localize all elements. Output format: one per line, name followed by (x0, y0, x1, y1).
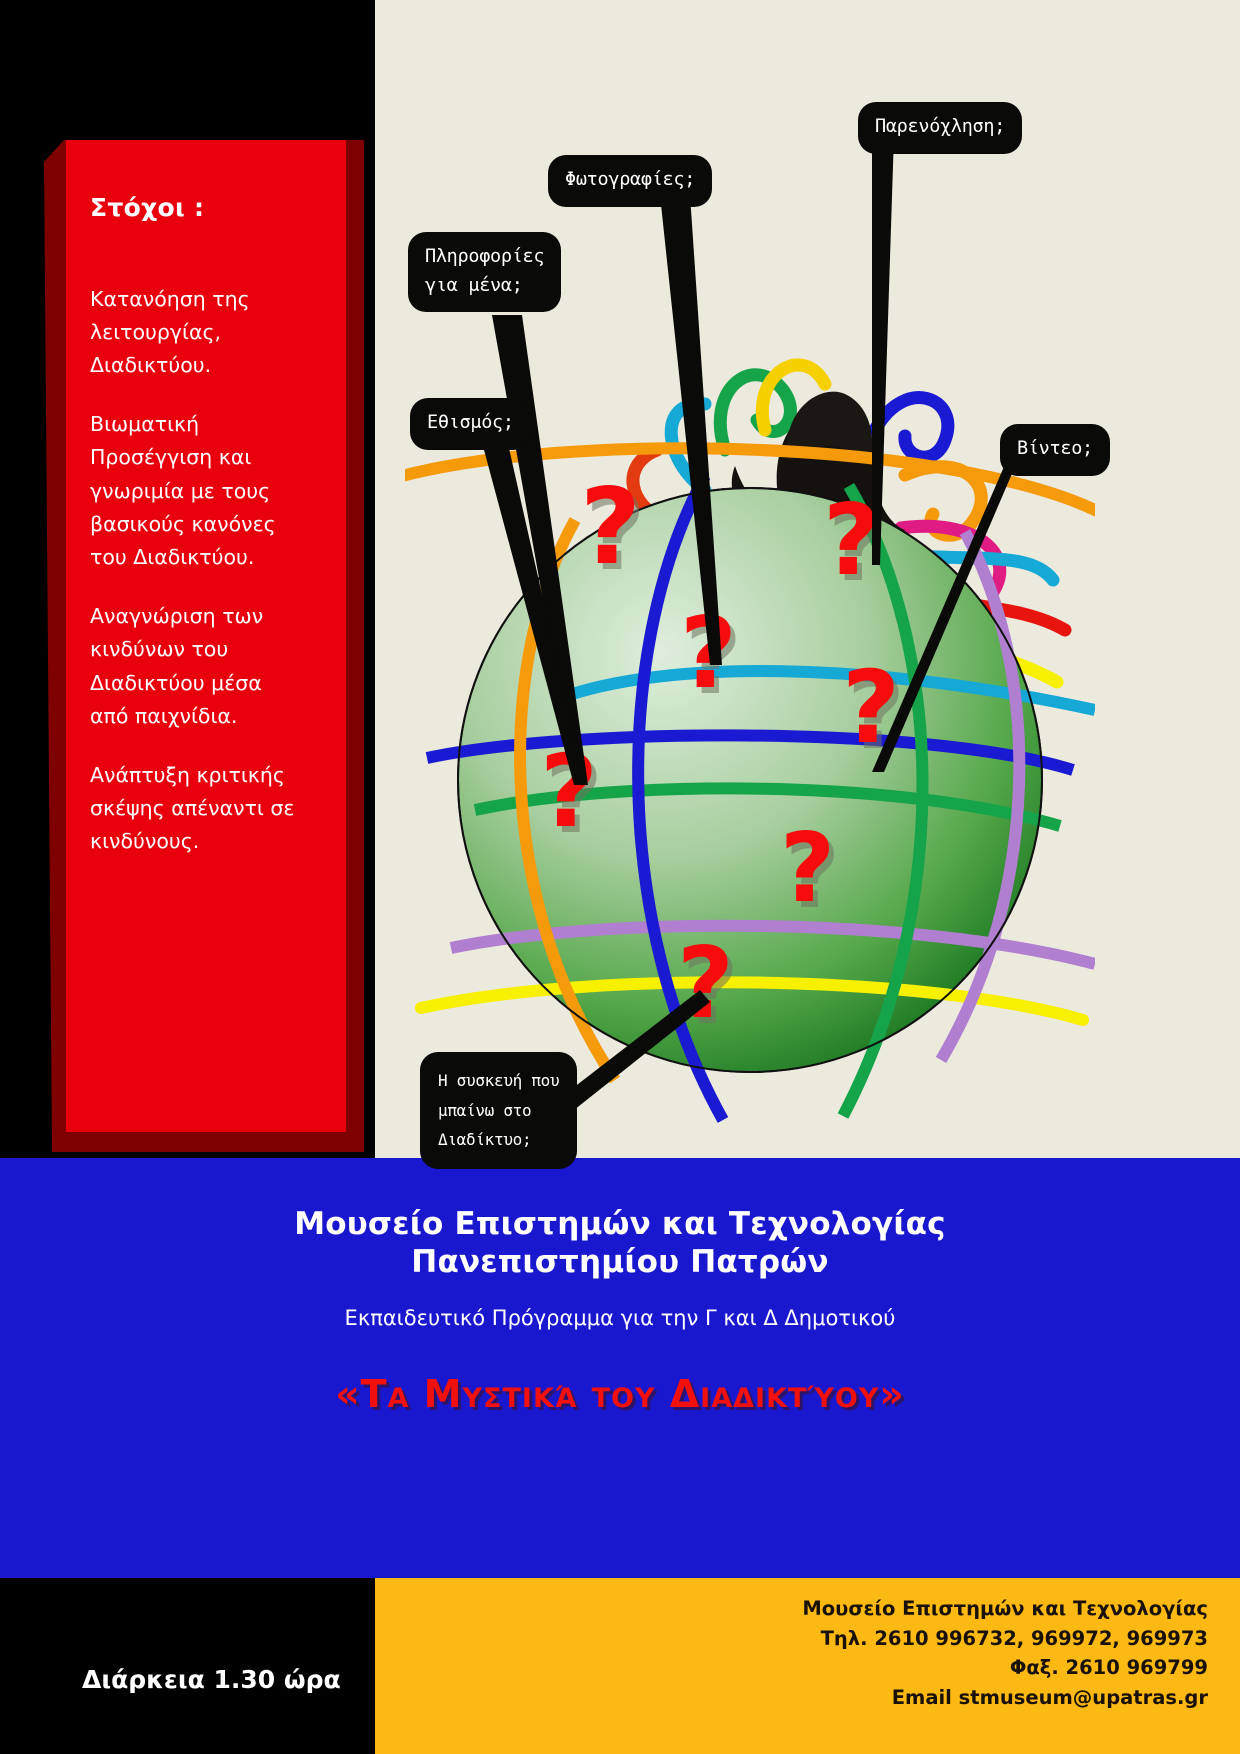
question-mark: ? (780, 822, 835, 917)
contact-email[interactable]: Email stmuseum@upatras.gr (375, 1683, 1208, 1713)
question-mark: ? (823, 492, 880, 590)
contact-band: Μουσείο Επιστημών και Τεχνολογίας Τηλ. 2… (375, 1578, 1240, 1754)
bubble-plirofories[interactable]: Πληροφορίες για μένα; (408, 232, 561, 312)
bubble-parenoxlisi[interactable]: Παρενόχληση; (858, 102, 1022, 154)
objective-item: Αναγνώριση των κινδύνων του Διαδικτύου μ… (90, 600, 305, 733)
contact-phone: Τηλ. 2610 996732, 969972, 969973 (375, 1624, 1208, 1654)
footer-blue-band: Μουσείο Επιστημών και Τεχνολογίας Πανεπι… (0, 1158, 1240, 1578)
poster-root: Στόχοι : Κατανόηση της λειτουργίας, Διαδ… (0, 0, 1240, 1754)
contact-name: Μουσείο Επιστημών και Τεχνολογίας (375, 1594, 1208, 1624)
bubble-syskevi[interactable]: Η συσκευή που μπαίνω στο Διαδίκτυο; (420, 1052, 577, 1169)
bubble-ethismos[interactable]: Εθισμός; (410, 398, 531, 450)
program-title: «Τα Μυστικά του Διαδικτύου» (0, 1372, 1240, 1416)
duration-label: Διάρκεια 1.30 ώρα (82, 1665, 341, 1694)
question-mark: ? (580, 475, 641, 580)
objectives-box: Στόχοι : Κατανόηση της λειτουργίας, Διαδ… (44, 140, 364, 1152)
objective-item: Βιωματική Προσέγγιση και γνωριμία με του… (90, 408, 305, 574)
organisation-line-2: Πανεπιστημίου Πατρών (0, 1244, 1240, 1282)
organisation-line-1: Μουσείο Επιστημών και Τεχνολογίας (0, 1158, 1240, 1244)
bubble-fotografies[interactable]: Φωτογραφίες; (548, 155, 712, 207)
objectives-content: Στόχοι : Κατανόηση της λειτουργίας, Διαδ… (90, 188, 305, 885)
objective-item: Ανάπτυξη κριτικής σκέψης απέναντι σε κιν… (90, 759, 305, 859)
objectives-title: Στόχοι : (90, 188, 305, 229)
bubble-vinteo[interactable]: Βίντεο; (1000, 424, 1110, 476)
program-subtitle: Εκπαιδευτικό Πρόγραμμα για την Γ και Δ Δ… (0, 1306, 1240, 1330)
objective-item: Κατανόηση της λειτουργίας, Διαδικτύου. (90, 283, 305, 383)
contact-fax: Φαξ. 2610 969799 (375, 1653, 1208, 1683)
